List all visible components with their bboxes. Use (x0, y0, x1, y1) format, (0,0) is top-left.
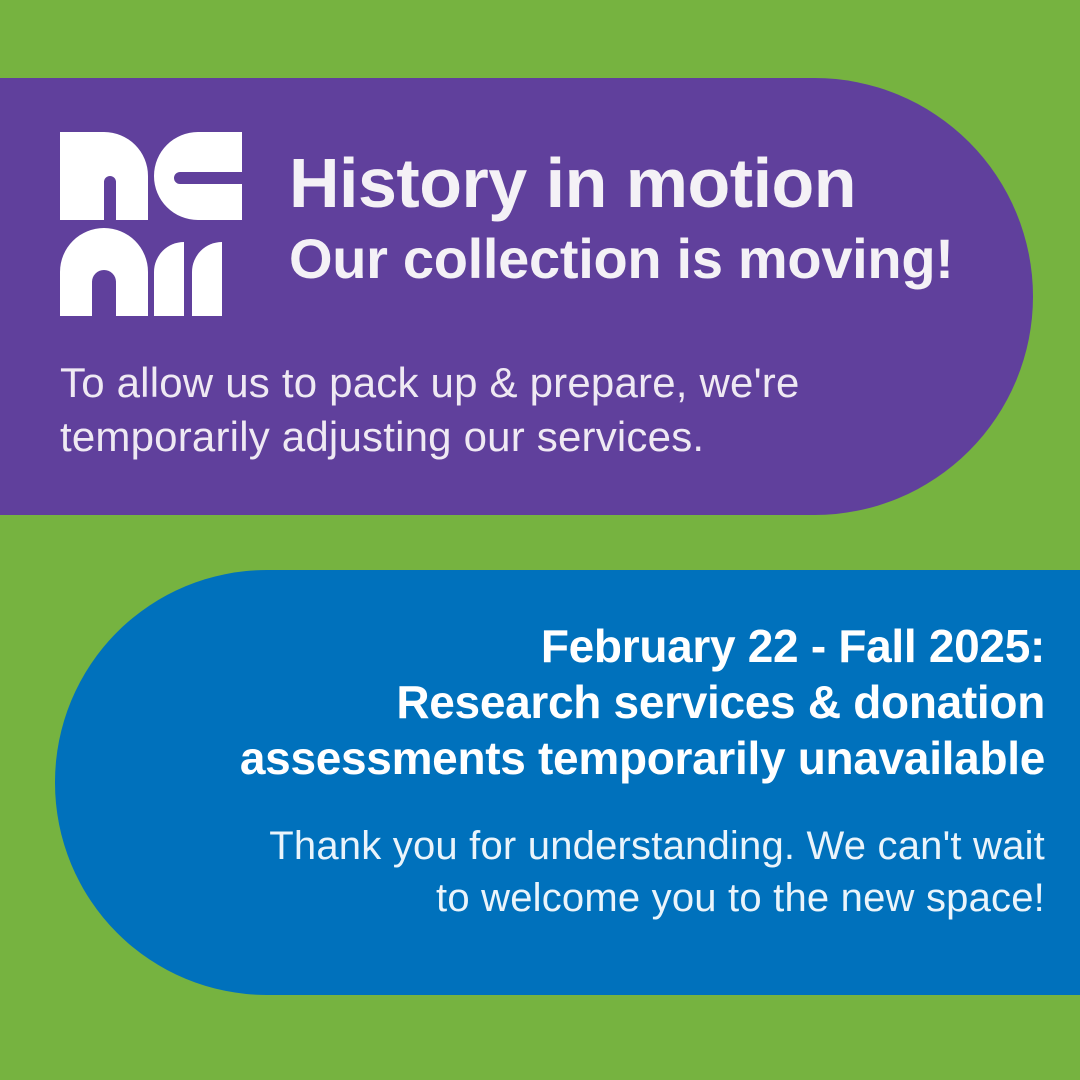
purple-announcement-panel: History in motion Our collection is movi… (0, 78, 1033, 515)
announcement-poster: History in motion Our collection is movi… (0, 0, 1080, 1080)
purple-headline-block: History in motion Our collection is movi… (289, 148, 989, 289)
blue-body-line-1: Thank you for understanding. We can't wa… (115, 820, 1045, 872)
purple-body-line-2: temporarily adjusting our services. (60, 410, 890, 464)
purple-body-line-1: To allow us to pack up & prepare, we're (60, 356, 890, 410)
blue-body-text: Thank you for understanding. We can't wa… (115, 820, 1045, 924)
blue-heading-line-1: February 22 - Fall 2025: (115, 618, 1045, 674)
purple-body-text: To allow us to pack up & prepare, we're … (60, 356, 890, 464)
blue-heading-line-2: Research services & donation (115, 674, 1045, 730)
blue-body-line-2: to welcome you to the new space! (115, 872, 1045, 924)
blue-heading-line-3: assessments temporarily unavailable (115, 730, 1045, 786)
ncam-logo (60, 132, 242, 316)
blue-announcement-panel: February 22 - Fall 2025: Research servic… (55, 570, 1080, 995)
page-subtitle: Our collection is moving! (289, 230, 989, 289)
page-title: History in motion (289, 148, 989, 218)
blue-heading-block: February 22 - Fall 2025: Research servic… (115, 618, 1045, 786)
